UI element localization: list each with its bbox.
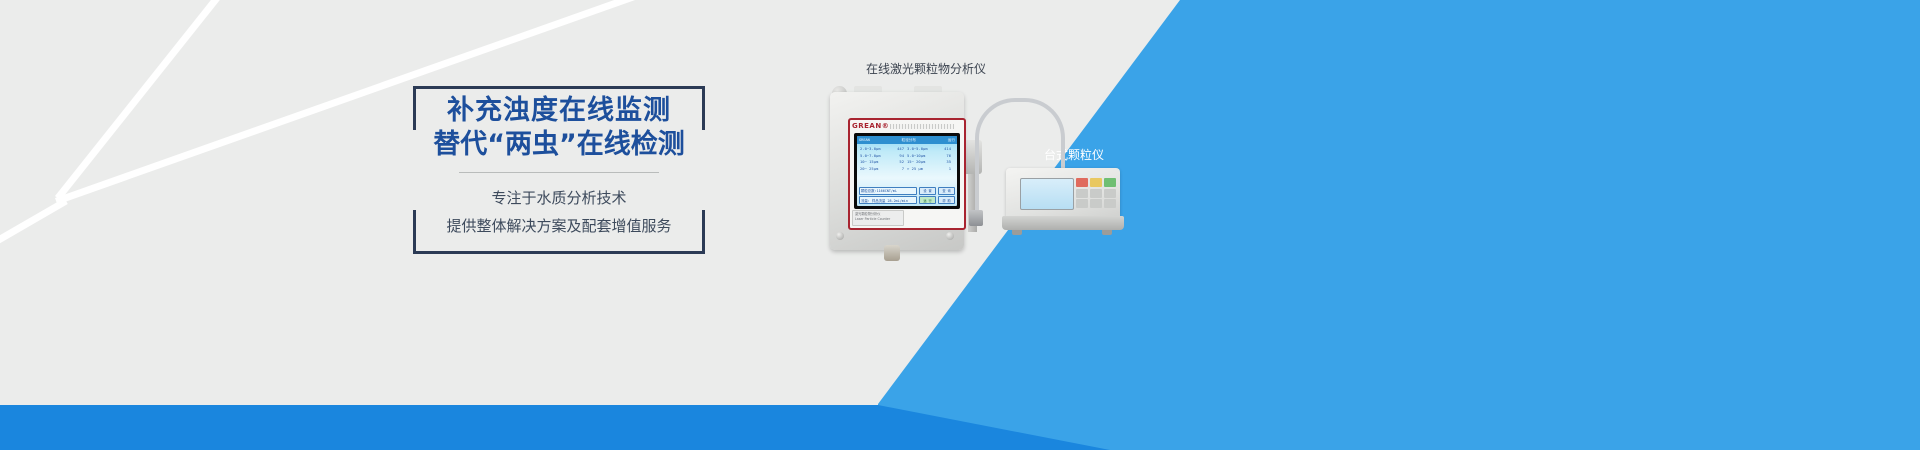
lcd-range: 5.0~10μm bbox=[907, 153, 925, 160]
lcd-settings-button[interactable]: 设 置 bbox=[919, 187, 936, 195]
analyzer-screw-bottom-left bbox=[836, 232, 844, 240]
lcd-cell-pair: 20~ 25μm 7 bbox=[860, 166, 907, 173]
lcd-flow-field: 流量: 样品流量 28.2mL/min bbox=[859, 196, 917, 204]
lcd-range: 20~ 25μm bbox=[860, 166, 878, 173]
frame-bottom-border bbox=[413, 251, 705, 254]
bench-base bbox=[1002, 216, 1124, 230]
bench-key[interactable] bbox=[1090, 199, 1102, 208]
nameplate-line-2: Laser Particle Counter bbox=[855, 217, 901, 222]
bench-key[interactable] bbox=[1104, 178, 1116, 187]
lcd-range: 10~ 15μm bbox=[860, 159, 878, 166]
laser-particle-analyzer-device: GREAN® GREAN 粒径分布 运行 2.0~3.0μm 447 bbox=[822, 82, 972, 260]
lcd-header-status: 运行 bbox=[948, 138, 955, 143]
lcd-header-brand: GREAN bbox=[859, 138, 870, 142]
lcd-table-row: 5.0~7.0μm 94 5.0~10μm 76 bbox=[860, 153, 954, 160]
analyzer-bottom-port bbox=[884, 245, 900, 261]
lcd-footer-row-1: 颗粒总数:1166CNT/mL 设 置 查 询 bbox=[859, 187, 955, 195]
bench-key[interactable] bbox=[1104, 199, 1116, 208]
lcd-header-title: 粒径分布 bbox=[902, 138, 916, 143]
lcd-range: 3.0~5.0μm bbox=[907, 146, 928, 153]
headline-panel: 补充浊度在线监测 替代“两虫”在线检测 专注于水质分析技术 提供整体解决方案及配… bbox=[413, 86, 705, 254]
analyzer-display-housing: GREAN 粒径分布 运行 2.0~3.0μm 447 3.0~5.0μm bbox=[854, 133, 960, 209]
lcd-cell-pair: 2.0~3.0μm 447 bbox=[860, 146, 907, 153]
lcd-run-button[interactable]: 运 行 bbox=[919, 196, 936, 204]
callout-analyzer-label: 在线激光颗粒物分析仪 bbox=[866, 60, 986, 77]
lcd-range: 2.0~3.0μm bbox=[860, 146, 881, 153]
lcd-cell-pair: 5.0~10μm 76 bbox=[907, 153, 954, 160]
bench-key[interactable] bbox=[1104, 189, 1116, 198]
lcd-value: 76 bbox=[946, 153, 951, 160]
hero-banner: 补充浊度在线监测 替代“两虫”在线检测 专注于水质分析技术 提供整体解决方案及配… bbox=[0, 0, 1920, 450]
bench-display[interactable] bbox=[1020, 178, 1074, 210]
lcd-footer-row-2: 流量: 样品流量 28.2mL/min 运 行 帮 助 bbox=[859, 196, 955, 204]
lcd-range: > 25 μm bbox=[907, 166, 923, 173]
bench-key[interactable] bbox=[1076, 189, 1088, 198]
tube-fitting-left bbox=[969, 210, 983, 226]
lcd-table-row: 10~ 15μm 52 15~ 20μm 35 bbox=[860, 159, 954, 166]
lcd-data-table: 2.0~3.0μm 447 3.0~5.0μm 414 5.0~7.0μm bbox=[857, 144, 957, 174]
lcd-help-button[interactable]: 帮 助 bbox=[938, 196, 955, 204]
analyzer-vent-grille bbox=[890, 124, 954, 129]
bench-key[interactable] bbox=[1090, 178, 1102, 187]
lcd-value: 414 bbox=[944, 146, 951, 153]
lcd-footer: 颗粒总数:1166CNT/mL 设 置 查 询 流量: 样品流量 28.2mL/… bbox=[859, 185, 955, 204]
lcd-range: 5.0~7.0μm bbox=[860, 153, 881, 160]
bench-key[interactable] bbox=[1090, 189, 1102, 198]
analyzer-nameplate: 激光颗粒物分析仪 Laser Particle Counter bbox=[852, 210, 904, 226]
analyzer-lcd-screen[interactable]: GREAN 粒径分布 运行 2.0~3.0μm 447 3.0~5.0μm bbox=[857, 136, 957, 206]
bench-key[interactable] bbox=[1076, 199, 1088, 208]
bench-keypad[interactable] bbox=[1076, 178, 1116, 208]
lcd-cell-pair: 3.0~5.0μm 414 bbox=[907, 146, 954, 153]
bench-foot-right bbox=[1102, 230, 1112, 235]
page-title: 补充浊度在线监测 替代“两虫”在线检测 bbox=[413, 94, 705, 162]
lcd-total-count-field: 颗粒总数:1166CNT/mL bbox=[859, 187, 917, 195]
headline-line-2: 替代“两虫”在线检测 bbox=[413, 128, 705, 162]
lcd-value: 94 bbox=[899, 153, 904, 160]
bench-foot-left bbox=[1012, 230, 1022, 235]
bench-housing bbox=[1006, 168, 1120, 220]
lcd-value: 447 bbox=[897, 146, 904, 153]
frame-top-border bbox=[413, 86, 705, 89]
bench-key[interactable] bbox=[1076, 178, 1088, 187]
subtitle-line-1: 专注于水质分析技术 bbox=[413, 184, 705, 212]
lcd-cell-pair: 15~ 20μm 35 bbox=[907, 159, 954, 166]
lcd-value: 7 bbox=[902, 166, 904, 173]
lcd-table-row: 2.0~3.0μm 447 3.0~5.0μm 414 bbox=[860, 146, 954, 153]
subtitle-block: 专注于水质分析技术 提供整体解决方案及配套增值服务 bbox=[413, 184, 705, 240]
lcd-value: 1 bbox=[949, 166, 951, 173]
lcd-cell-pair: > 25 μm 1 bbox=[907, 166, 954, 173]
lcd-header-bar: GREAN 粒径分布 运行 bbox=[857, 136, 957, 144]
bench-particle-counter-device bbox=[1002, 168, 1124, 248]
lcd-value: 35 bbox=[946, 159, 951, 166]
lcd-cell-pair: 10~ 15μm 52 bbox=[860, 159, 907, 166]
lcd-range: 15~ 20μm bbox=[907, 159, 925, 166]
headline-line-1: 补充浊度在线监测 bbox=[413, 94, 705, 128]
subtitle-line-2: 提供整体解决方案及配套增值服务 bbox=[413, 212, 705, 240]
lcd-table-row: 20~ 25μm 7 > 25 μm 1 bbox=[860, 166, 954, 173]
analyzer-enclosure: GREAN® GREAN 粒径分布 运行 2.0~3.0μm 447 bbox=[830, 92, 964, 250]
analyzer-brand-logo: GREAN® bbox=[852, 122, 889, 130]
lcd-value: 52 bbox=[899, 159, 904, 166]
lcd-cell-pair: 5.0~7.0μm 94 bbox=[860, 153, 907, 160]
title-divider bbox=[459, 172, 659, 173]
lcd-query-button[interactable]: 查 询 bbox=[938, 187, 955, 195]
analyzer-screw-bottom-right bbox=[946, 232, 954, 240]
